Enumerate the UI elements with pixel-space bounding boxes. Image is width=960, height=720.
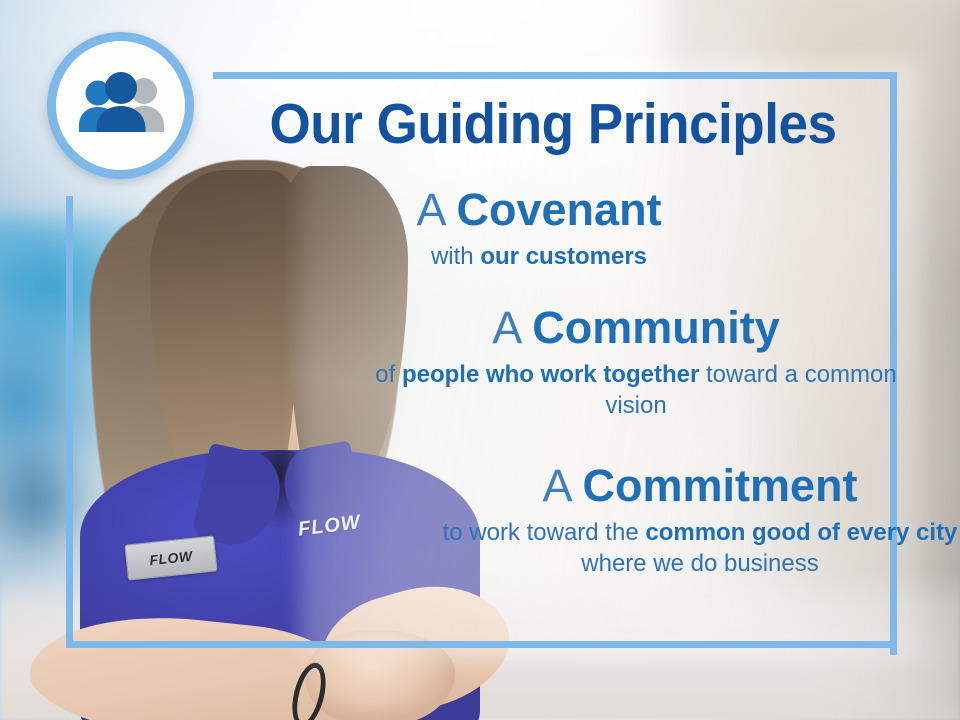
principle-commitment: A Commitment to work toward the common g… xyxy=(410,462,960,579)
principle-community-article: A xyxy=(492,302,520,353)
principle-community-title: A Community xyxy=(346,304,926,352)
community-sub-part-1: people who work together xyxy=(402,361,699,388)
commitment-sub-part-2: where we do business xyxy=(581,550,818,577)
commitment-sub-part-1: common good of every city xyxy=(645,519,957,546)
principle-covenant-article: A xyxy=(416,184,444,235)
community-sub-part-0: of xyxy=(375,361,402,388)
people-group-icon xyxy=(69,71,173,141)
principle-community-keyword: Community xyxy=(532,302,780,353)
people-group-icon-badge xyxy=(47,32,194,179)
commitment-sub-part-0: to work toward the xyxy=(443,519,646,546)
principle-community-subtitle: of people who work together toward a com… xyxy=(346,359,926,421)
guiding-principles-poster: FLOW FLOW Our Guiding Principles xyxy=(0,0,960,720)
principle-community: A Community of people who work together … xyxy=(346,304,926,421)
principle-commitment-title: A Commitment xyxy=(410,462,960,510)
page-title: Our Guiding Principles xyxy=(237,95,869,153)
principle-covenant-subtitle: with our customers xyxy=(249,241,829,272)
principle-commitment-keyword: Commitment xyxy=(583,460,858,511)
principle-covenant: A Covenant with our customers xyxy=(249,186,829,272)
principle-covenant-keyword: Covenant xyxy=(457,184,662,235)
principle-covenant-title: A Covenant xyxy=(249,186,829,234)
covenant-sub-part-0: with xyxy=(431,243,480,270)
covenant-sub-part-1: our customers xyxy=(480,243,647,270)
principle-commitment-subtitle: to work toward the common good of every … xyxy=(410,517,960,579)
principle-commitment-article: A xyxy=(542,460,570,511)
